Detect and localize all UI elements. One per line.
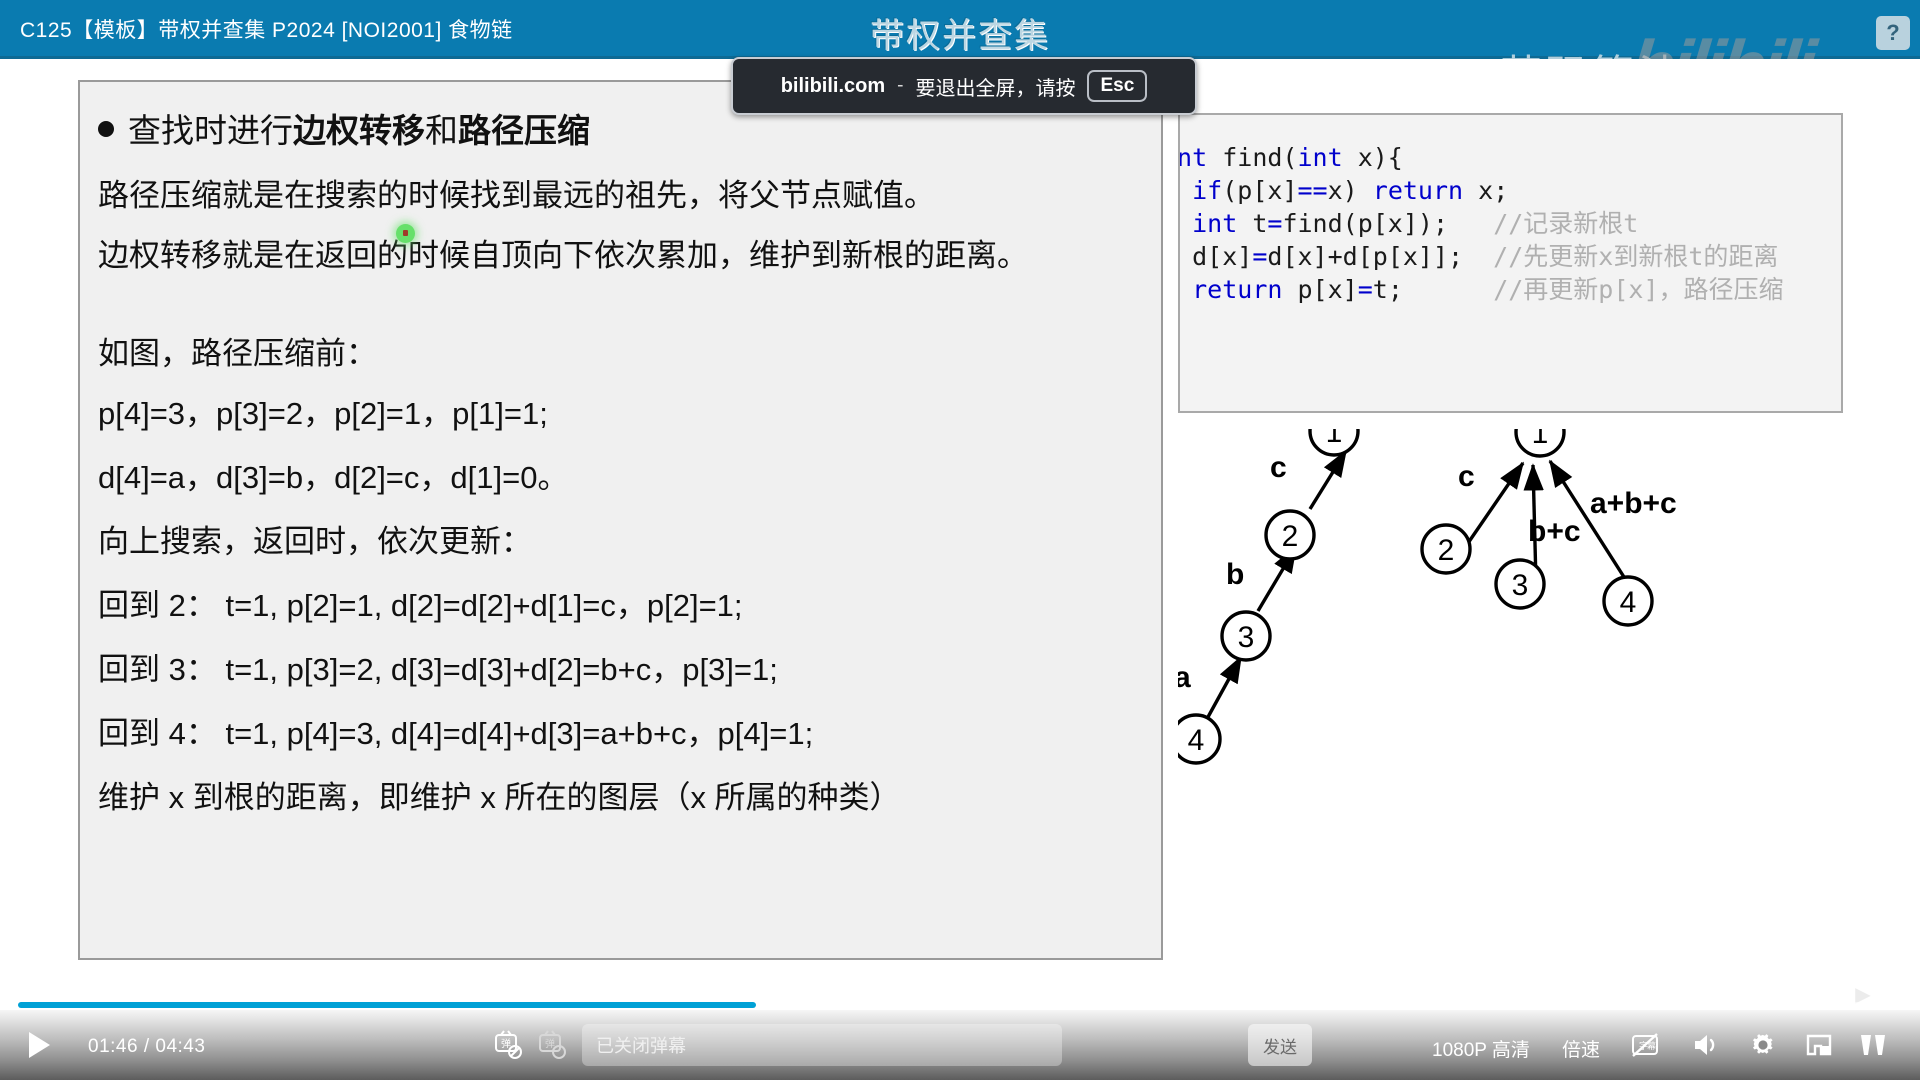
gear-icon[interactable] (1748, 1030, 1778, 1060)
video-player: C125【模板】带权并查集 P2024 [NOI2001] 食物链 带权并查集 … (0, 0, 1920, 1080)
edge-label-abc: a+b+c (1590, 487, 1677, 520)
playback-speed-selector[interactable]: 倍速 (1562, 1035, 1600, 1062)
progress-bar-fill (18, 1002, 756, 1008)
edge-label-b: b (1226, 558, 1244, 591)
slide-line-6: d[4]=a，d[3]=b，d[2]=c，d[1]=0。 (98, 452, 568, 497)
time-display: 01:46 / 04:43 (88, 1036, 205, 1058)
slide-line-5: p[4]=3，p[3]=2，p[2]=1，p[1]=1; (98, 388, 548, 433)
code-block: int p[N],d[N]; //d[x]表示x到父节点的距离 int find… (1178, 113, 1784, 339)
danmaku-input-placeholder: 已关闭弹幕 (596, 1032, 686, 1058)
fullscreen-exit-toast: bilibili.com - 要退出全屏，请按 Esc (731, 57, 1197, 115)
slide-line-3: 边权转移就是在返回的时候自顶向下依次累加，维护到新根的距离。 (98, 230, 1028, 275)
danmaku-off-icon[interactable]: 弹 (492, 1030, 522, 1060)
node-3-right-label: 3 (1512, 569, 1529, 602)
danmaku-settings-icon[interactable]: 弹 (536, 1030, 566, 1060)
edge-label-c-left: c (1270, 451, 1287, 484)
code-card: int p[N],d[N]; //d[x]表示x到父节点的距离 int find… (1178, 113, 1843, 413)
node-1-right-label: 1 (1532, 429, 1549, 450)
slide-body: 查找时进行边权转移和路径压缩 路径压缩就是在搜索的时候找到最远的祖先，将父节点赋… (0, 59, 1920, 1010)
toast-esc-key: Esc (1087, 70, 1147, 102)
node-4-right-label: 4 (1620, 586, 1637, 619)
edge-label-a: a (1178, 661, 1191, 694)
slide-line-10: 回到 4： t=1, p[4]=3, d[4]=d[4]+d[3]=a+b+c，… (98, 708, 813, 753)
subtitle-off-icon[interactable]: 字 幕 (1630, 1030, 1660, 1060)
bullet-text-plain: 查找时进行 (128, 112, 293, 149)
bullet-text-bold-2: 路径压缩 (458, 112, 590, 149)
slide-line-11: 维护 x 到根的距离，即维护 x 所在的图层（x 所属的种类） (98, 772, 901, 817)
danmaku-input[interactable]: 已关闭弹幕 (582, 1024, 1062, 1066)
web-fullscreen-icon[interactable] (1858, 1030, 1888, 1060)
node-2-right-label: 2 (1438, 534, 1455, 567)
diagram-left: 4 3 2 1 a b c (1178, 429, 1358, 763)
bullet-text-mid: 和 (425, 112, 458, 149)
slide-title: 带权并查集 (0, 8, 1920, 57)
toast-site-label: bilibili.com (781, 75, 885, 98)
player-control-bar: 01:46 / 04:43 弹 弹 已关闭弹幕 发送 1080P 高清 倍速 字… (0, 1010, 1920, 1080)
progress-bar[interactable] (18, 1002, 1902, 1008)
laser-pointer-cursor (396, 224, 415, 243)
node-1-left-label: 1 (1326, 429, 1343, 449)
slide-line-9: 回到 3： t=1, p[3]=2, d[3]=d[3]+d[2]=b+c，p[… (98, 644, 778, 689)
edge-label-c-right: c (1458, 460, 1475, 493)
quality-selector[interactable]: 1080P 高清 (1432, 1035, 1530, 1062)
bullet-line: 查找时进行边权转移和路径压缩 (98, 104, 590, 152)
question-mark-icon[interactable]: ? (1876, 16, 1910, 50)
play-icon[interactable] (22, 1028, 56, 1062)
node-4-left-label: 4 (1188, 724, 1205, 757)
slide-line-2: 路径压缩就是在搜索的时候找到最远的祖先，将父节点赋值。 (98, 170, 935, 215)
diagram-svg: 4 3 2 1 a b c (1178, 429, 1858, 929)
slide-surface: C125【模板】带权并查集 P2024 [NOI2001] 食物链 带权并查集 … (0, 0, 1920, 1010)
slide-line-8: 回到 2： t=1, p[2]=1, d[2]=d[2]+d[1]=c，p[2]… (98, 580, 743, 625)
union-find-diagrams: 4 3 2 1 a b c (1178, 429, 1858, 929)
toast-message: 要退出全屏，请按 (915, 72, 1075, 101)
send-danmaku-button[interactable]: 发送 (1248, 1024, 1312, 1066)
volume-icon[interactable] (1690, 1030, 1720, 1060)
edge-label-bc: b+c (1528, 515, 1581, 548)
toast-dash: - (897, 75, 903, 97)
node-2-left-label: 2 (1282, 520, 1299, 553)
picture-in-picture-icon[interactable] (1804, 1030, 1834, 1060)
bullet-dot-icon (98, 121, 114, 137)
slide-line-4: 如图，路径压缩前： (98, 328, 377, 373)
slide-line-7: 向上搜索，返回时，依次更新： (98, 516, 532, 561)
diagram-right: 2 3 4 1 c b+c a+b+c (1422, 429, 1677, 625)
node-3-left-label: 3 (1238, 621, 1255, 654)
bullet-text-bold-1: 边权转移 (293, 112, 425, 149)
content-card: 查找时进行边权转移和路径压缩 路径压缩就是在搜索的时候找到最远的祖先，将父节点赋… (78, 80, 1163, 960)
